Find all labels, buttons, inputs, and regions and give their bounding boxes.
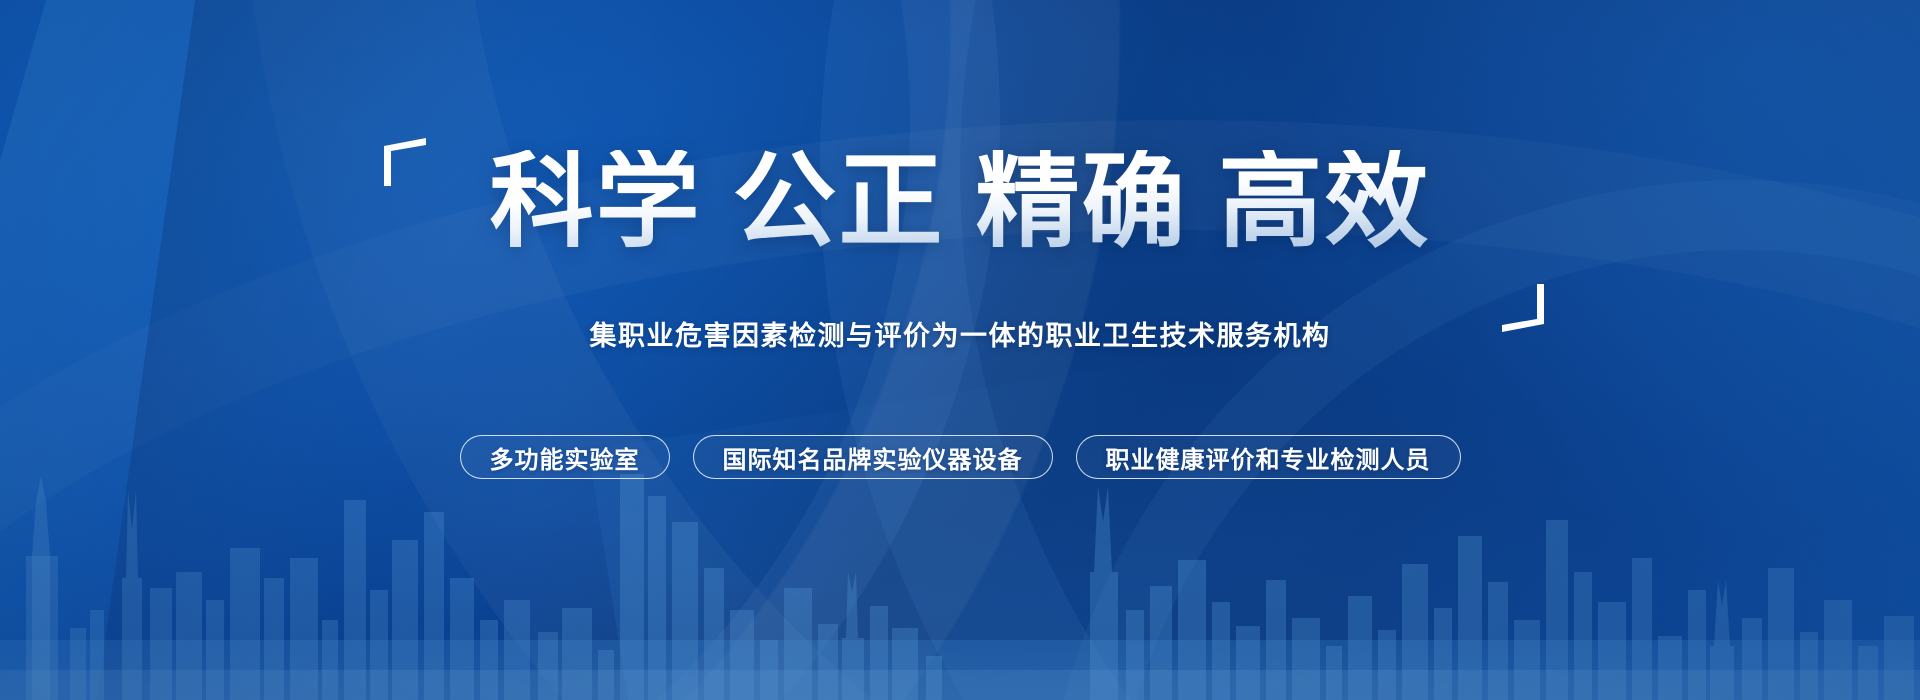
page-title: 科学 公正 精确 高效 [460,150,1460,254]
quote-open-bracket-icon [382,138,426,184]
feature-pill-personnel[interactable]: 职业健康评价和专业检测人员 [1076,435,1461,479]
page-subtitle: 集职业危害因素检测与评价为一体的职业卫生技术服务机构 [590,314,1331,353]
feature-pill-lab[interactable]: 多功能实验室 [460,435,670,479]
feature-pill-equipment[interactable]: 国际知名品牌实验仪器设备 [693,435,1053,479]
banner-content: 科学 公正 精确 高效 集职业危害因素检测与评价为一体的职业卫生技术服务机构 多… [0,0,1920,700]
feature-pill-group: 多功能实验室 国际知名品牌实验仪器设备 职业健康评价和专业检测人员 [460,435,1461,479]
quote-close-bracket-icon [1500,284,1544,330]
headline-wrapper: 科学 公正 精确 高效 [460,150,1460,278]
hero-banner: 科学 公正 精确 高效 集职业危害因素检测与评价为一体的职业卫生技术服务机构 多… [0,0,1920,700]
